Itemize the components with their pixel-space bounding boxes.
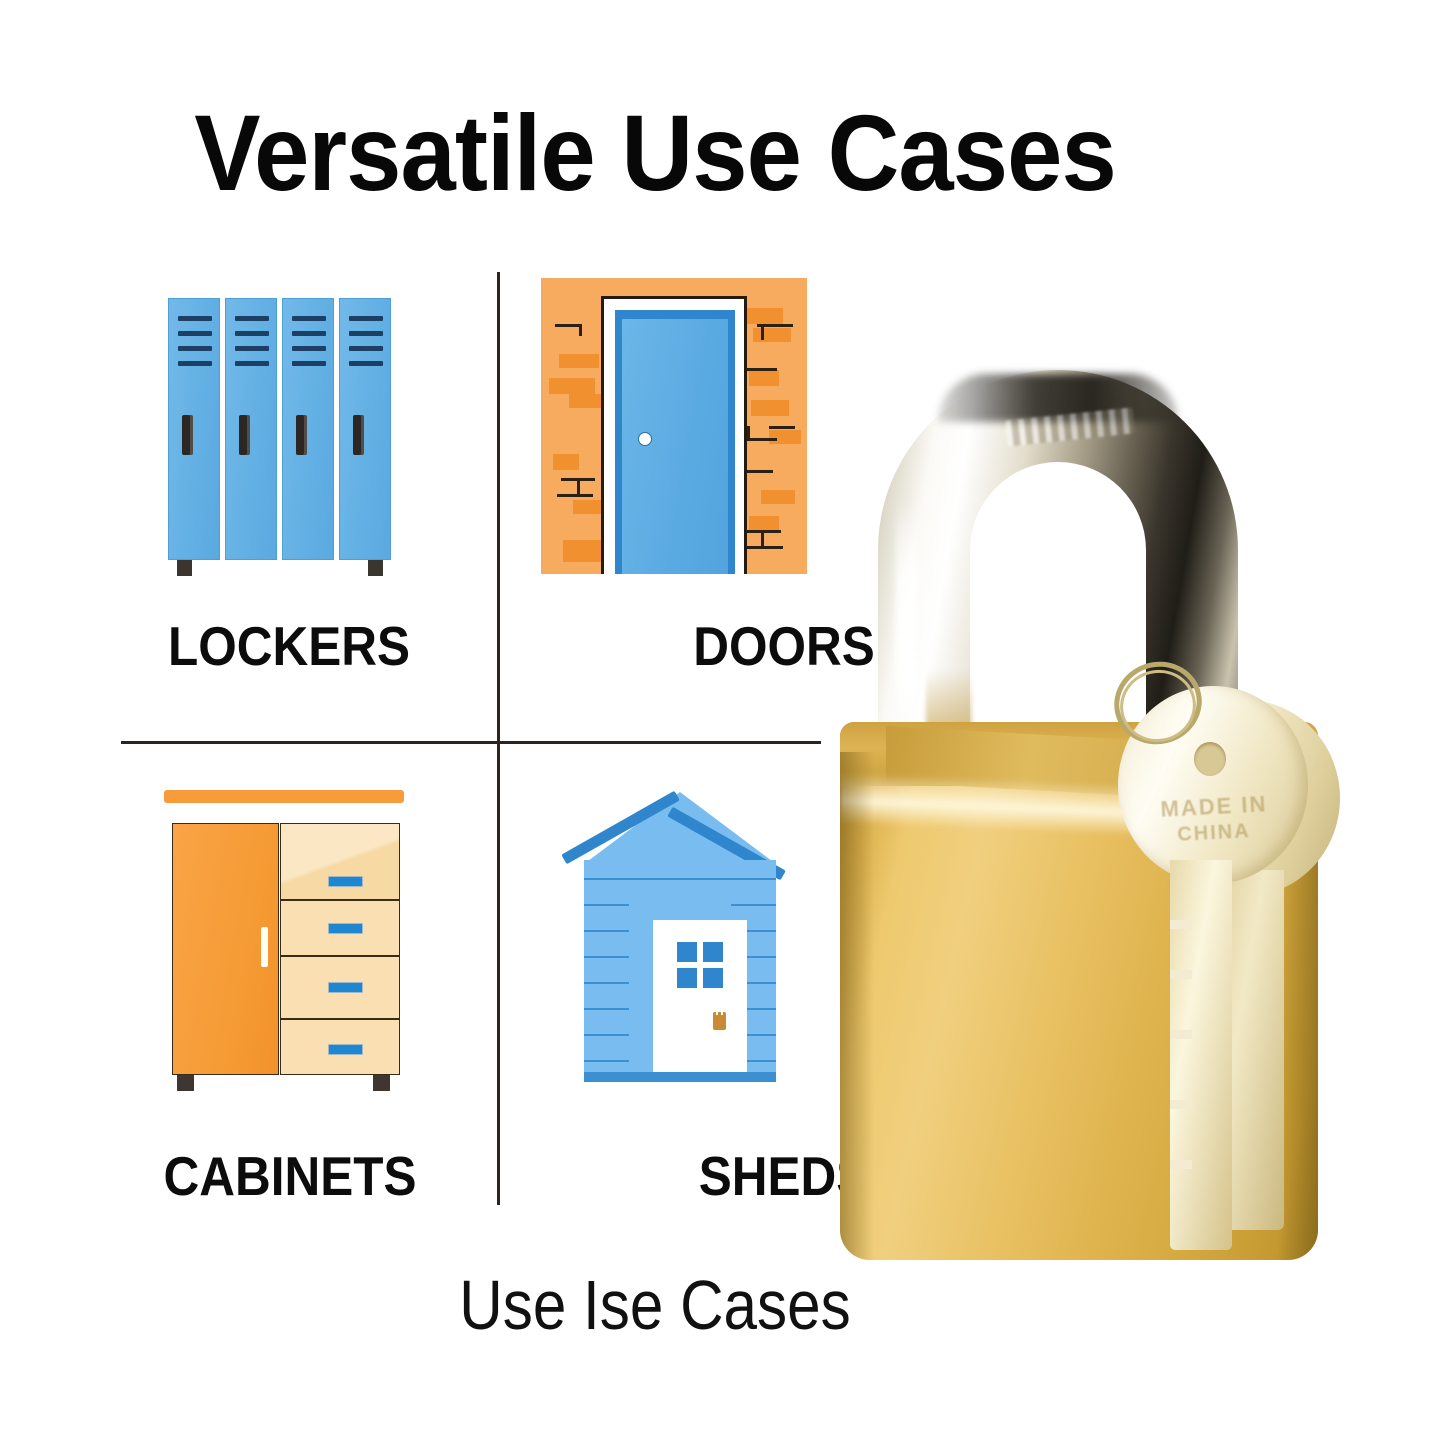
- key-notch: [1170, 1100, 1192, 1109]
- brick-mortar-line: [761, 530, 764, 546]
- locker-vent: [178, 316, 212, 321]
- window-pane: [677, 942, 697, 962]
- key-notch: [1170, 1160, 1192, 1169]
- locker-unit: [339, 298, 391, 560]
- locker-vent: [178, 346, 212, 351]
- key-notch: [1170, 1030, 1192, 1039]
- key-ring-hole: [1194, 742, 1226, 776]
- brick-mortar-line: [557, 494, 593, 497]
- brick: [569, 394, 603, 408]
- shed-padlock-shackle: [716, 1006, 723, 1015]
- drawer-handle: [328, 923, 363, 934]
- shed-plank: [584, 982, 629, 984]
- brick: [749, 370, 779, 386]
- brick-mortar-line: [747, 470, 773, 473]
- locker-vent: [292, 331, 326, 336]
- brick: [751, 400, 789, 416]
- brick: [749, 516, 779, 530]
- drawer-handle: [328, 982, 363, 993]
- locker-handle: [182, 415, 193, 455]
- cabinet-door: [172, 823, 279, 1075]
- cabinet-door-handle: [261, 927, 268, 967]
- shed-plank: [731, 904, 776, 906]
- page-title: Versatile Use Cases: [52, 98, 1257, 208]
- locker-foot: [368, 560, 383, 576]
- window-pane: [703, 968, 723, 988]
- locker-foot: [177, 560, 192, 576]
- locker-vent: [292, 346, 326, 351]
- footer-caption: Use Ise Cases: [92, 1268, 1219, 1342]
- shed-plank: [584, 878, 776, 880]
- brick-mortar-line: [769, 426, 795, 429]
- locker-vent: [178, 331, 212, 336]
- quadrant-label-cabinets: CABINETS: [29, 1147, 551, 1205]
- door-panel-inner: [622, 319, 728, 574]
- shed-plank: [584, 1008, 629, 1010]
- door-frame: [601, 296, 747, 574]
- shed-plank: [584, 1034, 629, 1036]
- shed-door: [653, 920, 747, 1146]
- door-panel-outer: [615, 310, 735, 574]
- locker-unit: [282, 298, 334, 560]
- padlock-left-shadow: [840, 752, 874, 1260]
- cabinet-foot: [177, 1075, 194, 1091]
- locker-vent: [178, 361, 212, 366]
- brick-mortar-line: [579, 324, 582, 336]
- drawer-handle: [328, 1044, 363, 1055]
- locker-handle: [353, 415, 364, 455]
- quadrant-label-lockers: LOCKERS: [29, 617, 549, 675]
- cabinet-icon: [160, 790, 408, 1100]
- locker-handle: [239, 415, 250, 455]
- brick: [549, 378, 595, 394]
- door-icon: [541, 278, 807, 574]
- locker-unit: [168, 298, 220, 560]
- locker-vent: [349, 331, 383, 336]
- cabinet-drawer: [280, 1019, 400, 1075]
- locker-vent: [292, 361, 326, 366]
- brick: [753, 328, 791, 342]
- cabinet-drawer: [280, 900, 400, 956]
- window-pane: [703, 942, 723, 962]
- lockers-icon: [168, 298, 396, 573]
- brick: [761, 490, 795, 504]
- shed-wall: [584, 860, 776, 1082]
- key-notch: [1170, 970, 1192, 979]
- shed-base: [584, 1072, 776, 1082]
- locker-vent: [349, 346, 383, 351]
- drawer-handle: [328, 876, 363, 887]
- cabinet-foot: [373, 1075, 390, 1091]
- brick: [553, 454, 579, 470]
- quadrant-divider-horizontal: [121, 741, 821, 744]
- brick-mortar-line: [747, 368, 777, 371]
- cabinet-drawer: [280, 956, 400, 1019]
- cabinet-drawer: [280, 823, 400, 900]
- infographic-canvas: Versatile Use Cases: [0, 0, 1445, 1445]
- shed-icon: [560, 788, 800, 1100]
- key-front-blade: [1170, 860, 1232, 1250]
- locker-vent: [292, 316, 326, 321]
- window-pane: [677, 968, 697, 988]
- shed-plank: [584, 956, 629, 958]
- brick: [747, 308, 783, 324]
- shackle-highlight: [896, 500, 918, 730]
- shed-window: [677, 942, 723, 988]
- key-notch: [1170, 920, 1192, 929]
- door-knob-icon: [638, 432, 652, 446]
- locker-vent: [235, 331, 269, 336]
- cabinet-body: [172, 823, 400, 1075]
- brick-mortar-line: [761, 324, 764, 340]
- shed-plank: [584, 930, 629, 932]
- brick: [769, 430, 801, 444]
- brick: [559, 354, 599, 368]
- locker-vent: [235, 316, 269, 321]
- locker-vent: [235, 346, 269, 351]
- brick-mortar-line: [555, 324, 581, 327]
- quadrant-divider-vertical: [497, 272, 500, 1205]
- locker-vent: [235, 361, 269, 366]
- locker-vent: [349, 316, 383, 321]
- shed-plank: [584, 904, 629, 906]
- shed-plank: [584, 1060, 629, 1062]
- cabinet-top-surface: [164, 790, 404, 803]
- locker-vent: [349, 361, 383, 366]
- locker-unit: [225, 298, 277, 560]
- locker-handle: [296, 415, 307, 455]
- brick-mortar-line: [747, 438, 777, 441]
- product-padlock-image: MASTER MB PADLOCK MADE IN CHINA: [818, 370, 1338, 1260]
- brick-mortar-line: [741, 546, 783, 549]
